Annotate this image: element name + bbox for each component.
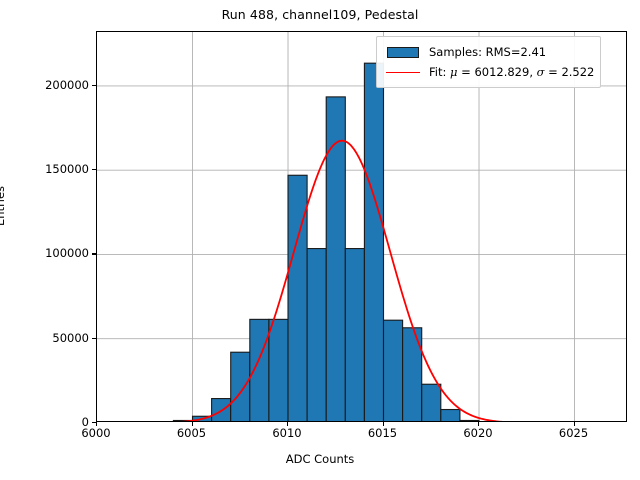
plot-area (96, 31, 627, 422)
x-tick-mark (383, 422, 384, 426)
x-tick-mark (287, 422, 288, 426)
y-axis-label: Entries (0, 186, 7, 226)
histogram-bars (173, 63, 479, 422)
histogram-bar (384, 320, 403, 422)
legend-item-samples[interactable]: Samples: RMS=2.41 (384, 42, 594, 62)
y-tick-label: 100000 (45, 246, 89, 260)
page-title: Run 488, channel109, Pedestal (0, 7, 640, 22)
sigma-value: = 2.522 (545, 65, 595, 79)
legend: Samples: RMS=2.41 Fit: μ = 6012.829, σ =… (376, 36, 601, 88)
histogram-bar (441, 410, 460, 422)
legend-line-icon (384, 63, 422, 81)
x-axis-label: ADC Counts (0, 452, 640, 466)
x-tick-label: 6005 (177, 426, 206, 440)
matplotlib-figure: Run 488, channel109, Pedestal Entries AD… (0, 0, 640, 480)
histogram-canvas (97, 32, 627, 422)
mu-value: = 6012.829, (458, 65, 537, 79)
x-tick-label: 6010 (272, 426, 301, 440)
histogram-bar (422, 384, 441, 422)
x-tick-mark (96, 422, 97, 426)
y-tick-label: 200000 (45, 78, 89, 92)
mu-symbol: μ (450, 65, 457, 79)
x-tick-label: 6025 (559, 426, 588, 440)
legend-label-samples: Samples: RMS=2.41 (429, 45, 546, 59)
histogram-bar (231, 352, 250, 422)
y-tick-label: 50000 (52, 331, 89, 345)
legend-item-fit[interactable]: Fit: μ = 6012.829, σ = 2.522 (384, 62, 594, 82)
histogram-bar (307, 249, 326, 422)
histogram-bar (269, 319, 288, 422)
x-tick-label: 6015 (368, 426, 397, 440)
histogram-bar (288, 175, 307, 422)
histogram-bar (326, 97, 345, 422)
legend-label-fit: Fit: μ = 6012.829, σ = 2.522 (429, 65, 594, 79)
x-tick-label: 6000 (81, 426, 110, 440)
histogram-bar (345, 249, 364, 422)
x-tick-mark (574, 422, 575, 426)
x-tick-label: 6020 (463, 426, 492, 440)
y-tick-label: 150000 (45, 162, 89, 176)
legend-patch-icon (384, 43, 422, 61)
sigma-symbol: σ (537, 65, 545, 79)
histogram-bar (460, 420, 479, 422)
x-tick-mark (478, 422, 479, 426)
x-tick-mark (192, 422, 193, 426)
fit-prefix: Fit: (429, 65, 450, 79)
histogram-bar (364, 63, 383, 422)
